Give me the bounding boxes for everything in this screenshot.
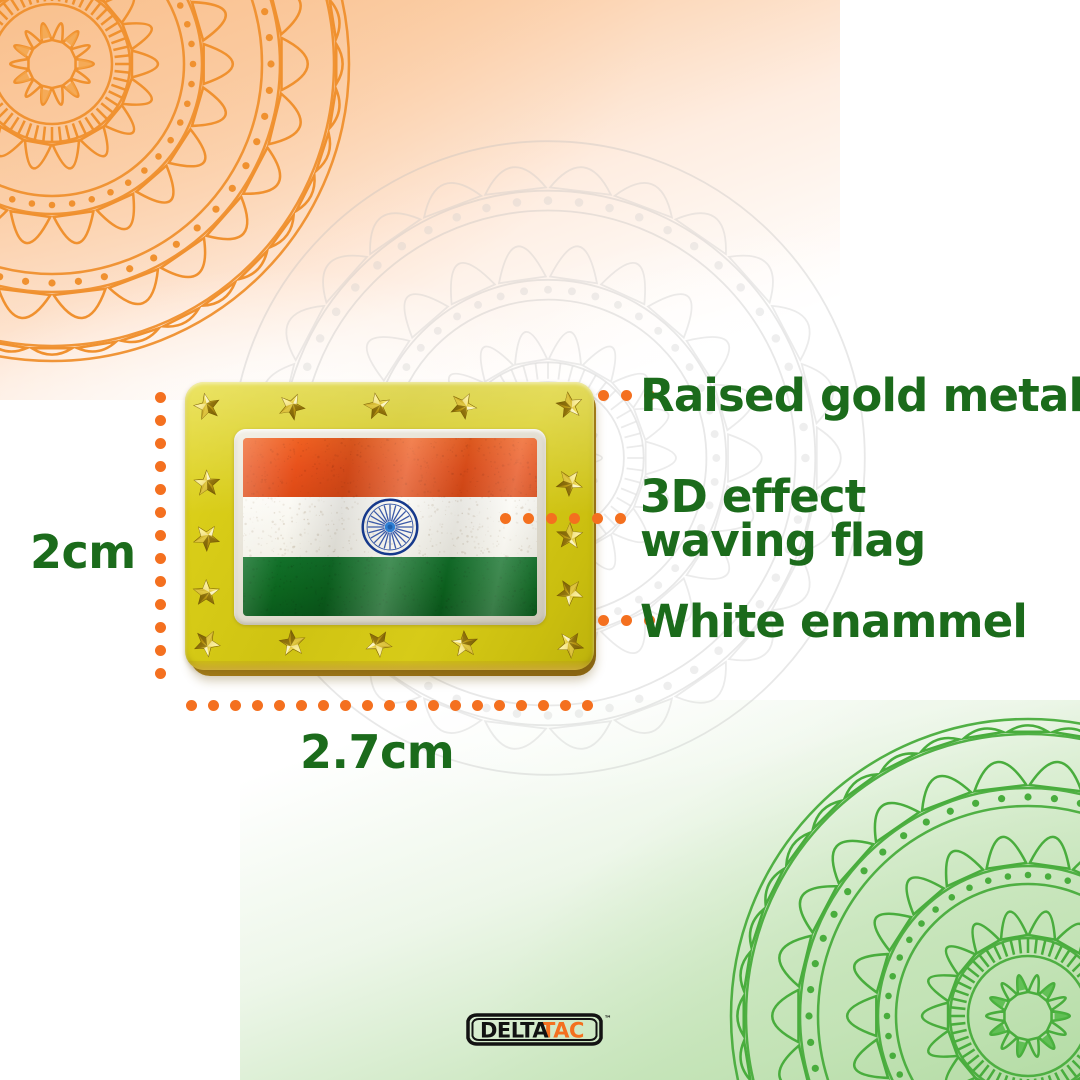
measure-dot: [155, 599, 166, 610]
measure-dot: [428, 700, 439, 711]
measure-dot: [155, 415, 166, 426]
callout-line: 3D effect: [640, 475, 925, 519]
product-flag-pin: [182, 378, 602, 680]
measure-dot: [155, 576, 166, 587]
measure-dot: [208, 700, 219, 711]
measure-dot: [318, 700, 329, 711]
measure-dot: [569, 513, 580, 524]
measure-dot: [340, 700, 351, 711]
measure-dot: [494, 700, 505, 711]
measure-dot: [560, 700, 571, 711]
embossed-star-icon: [549, 623, 591, 665]
measure-dot: [546, 513, 557, 524]
measure-dot: [621, 390, 632, 401]
measure-dot: [155, 507, 166, 518]
measure-dot: [450, 700, 461, 711]
measure-dot: [538, 700, 549, 711]
callout-white-enammel: White enammel: [640, 600, 1027, 644]
height-dimension-label: 2cm: [30, 525, 136, 579]
india-tricolor-flag: [243, 438, 537, 616]
embossed-star-icon: [446, 626, 482, 662]
measure-dot: [406, 700, 417, 711]
measure-dot: [598, 390, 609, 401]
callout-connector-3d-effect-waving-flag: [500, 513, 626, 524]
measure-dot: [155, 392, 166, 403]
width-dimension-label: 2.7cm: [300, 725, 454, 779]
embossed-star-icon: [188, 574, 226, 612]
callout-line: Raised gold metal: [640, 374, 1080, 418]
measure-dot: [592, 513, 603, 524]
frame-bottom-edge: [185, 661, 594, 670]
width-measure-dotted-line: [186, 700, 593, 711]
measure-dot: [155, 553, 166, 564]
measure-dot: [362, 700, 373, 711]
measure-dot: [155, 438, 166, 449]
measure-dot: [598, 615, 609, 626]
measure-dot: [472, 700, 483, 711]
measure-dot: [155, 484, 166, 495]
measure-dot: [516, 700, 527, 711]
brand-logo-deltatac: TAC DELTA ™: [466, 1008, 614, 1052]
svg-text:DELTA: DELTA: [480, 1019, 549, 1043]
callout-line: waving flag: [640, 519, 925, 563]
measure-dot: [155, 622, 166, 633]
embossed-star-icon: [549, 385, 591, 427]
measure-dot: [500, 513, 511, 524]
callout-line: White enammel: [640, 600, 1027, 644]
measure-dot: [384, 700, 395, 711]
measure-dot: [155, 645, 166, 656]
flag-band-green: [243, 557, 537, 616]
embossed-star-icon: [186, 516, 228, 558]
measure-dot: [155, 461, 166, 472]
ashoka-chakra-icon: [359, 496, 421, 558]
callout-3d-effect-waving-flag: 3D effect waving flag: [640, 475, 925, 562]
measure-dot: [582, 700, 593, 711]
white-enamel-bezel: [234, 429, 546, 625]
embossed-star-icon: [358, 386, 399, 427]
measure-dot: [230, 700, 241, 711]
embossed-star-icon: [272, 624, 313, 665]
deltatac-logo-icon: TAC DELTA ™: [466, 1008, 614, 1052]
callout-raised-gold-metal: Raised gold metal: [640, 374, 1080, 418]
measure-dot: [615, 513, 626, 524]
measure-dot: [155, 530, 166, 541]
embossed-star-icon: [190, 627, 223, 660]
measure-dot: [252, 700, 263, 711]
measure-dot: [155, 668, 166, 679]
badge-gold-frame: [185, 382, 594, 670]
embossed-star-icon: [358, 624, 397, 663]
measure-dot: [621, 615, 632, 626]
flag-band-saffron: [243, 438, 537, 497]
embossed-star-icon: [551, 464, 589, 502]
embossed-star-icon: [191, 467, 222, 498]
embossed-star-icon: [447, 389, 481, 423]
embossed-star-icon: [189, 388, 225, 424]
measure-dot: [186, 700, 197, 711]
measure-dot: [523, 513, 534, 524]
height-measure-dotted-line: [155, 392, 166, 679]
embossed-star-icon: [272, 386, 312, 426]
svg-text:™: ™: [604, 1014, 612, 1023]
measure-dot: [274, 700, 285, 711]
measure-dot: [296, 700, 307, 711]
infographic-canvas: 2cm 2.7cm Raised gold metal 3D effect wa…: [0, 0, 1080, 1080]
embossed-star-icon: [554, 577, 586, 609]
